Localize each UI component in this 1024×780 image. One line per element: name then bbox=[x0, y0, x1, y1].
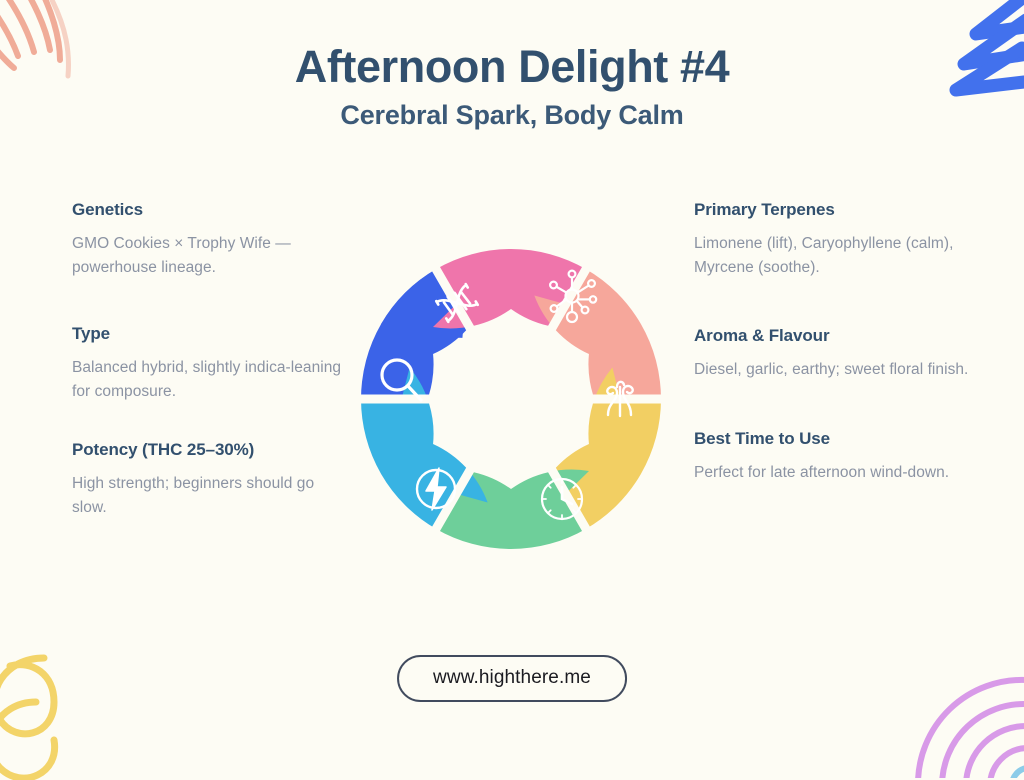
left-info-column: Genetics GMO Cookies × Trophy Wife — pow… bbox=[72, 200, 350, 556]
info-heading: Best Time to Use bbox=[694, 429, 972, 449]
header: Afternoon Delight #4 Cerebral Spark, Bod… bbox=[0, 42, 1024, 131]
page-subtitle: Cerebral Spark, Body Calm bbox=[0, 100, 1024, 131]
right-info-column: Primary Terpenes Limonene (lift), Caryop… bbox=[694, 200, 972, 521]
website-url-badge[interactable]: www.highthere.me bbox=[397, 655, 627, 702]
info-heading: Type bbox=[72, 324, 350, 344]
info-body: Limonene (lift), Caryophyllene (calm), M… bbox=[694, 232, 972, 280]
info-block-aroma-flavour: Aroma & Flavour Diesel, garlic, earthy; … bbox=[694, 326, 972, 382]
wheel-center-hole bbox=[438, 326, 584, 472]
cycle-wheel-diagram bbox=[341, 231, 681, 567]
info-body: High strength; beginners should go slow. bbox=[72, 472, 350, 520]
info-block-type: Type Balanced hybrid, slightly indica-le… bbox=[72, 324, 350, 404]
info-body: Balanced hybrid, slightly indica-leaning… bbox=[72, 356, 350, 404]
page-title: Afternoon Delight #4 bbox=[0, 42, 1024, 92]
info-block-best-time-to-use: Best Time to Use Perfect for late aftern… bbox=[694, 429, 972, 485]
info-heading: Genetics bbox=[72, 200, 350, 220]
info-block-genetics: Genetics GMO Cookies × Trophy Wife — pow… bbox=[72, 200, 350, 280]
infographic-canvas: Afternoon Delight #4 Cerebral Spark, Bod… bbox=[0, 0, 1024, 768]
info-block-potency: Potency (THC 25–30%) High strength; begi… bbox=[72, 440, 350, 520]
info-body: Diesel, garlic, earthy; sweet floral fin… bbox=[694, 358, 972, 382]
website-url-text: www.highthere.me bbox=[433, 667, 591, 688]
info-heading: Aroma & Flavour bbox=[694, 326, 972, 346]
info-heading: Potency (THC 25–30%) bbox=[72, 440, 350, 460]
info-body: Perfect for late afternoon wind-down. bbox=[694, 461, 972, 485]
info-heading: Primary Terpenes bbox=[694, 200, 972, 220]
loops-bottom-left-decoration bbox=[0, 640, 112, 780]
info-body: GMO Cookies × Trophy Wife — powerhouse l… bbox=[72, 232, 350, 280]
arcs-bottom-right-decoration bbox=[908, 654, 1024, 778]
info-block-primary-terpenes: Primary Terpenes Limonene (lift), Caryop… bbox=[694, 200, 972, 280]
